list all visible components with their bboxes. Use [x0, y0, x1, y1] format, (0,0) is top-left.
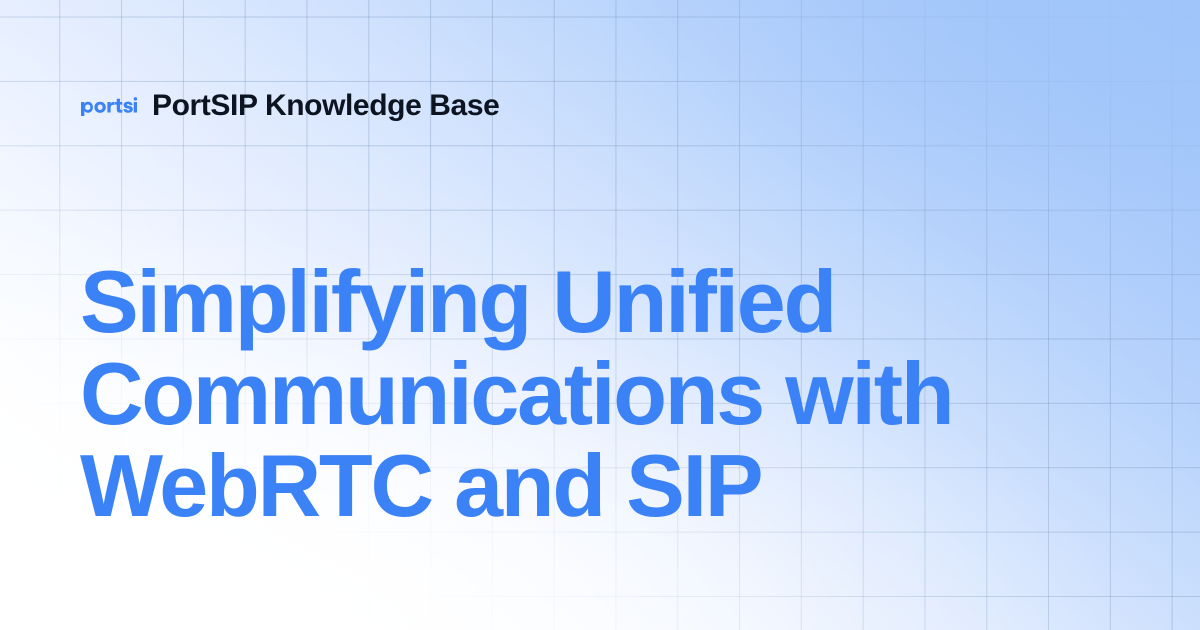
share-card: PortSIP Knowledge Base Simplifying Unifi… — [0, 0, 1200, 630]
page-title: Simplifying Unified Communications with … — [80, 256, 1110, 532]
headline-line-3: WebRTC and SIP — [80, 440, 1110, 532]
portsip-logo-icon — [80, 97, 138, 116]
brand-header: PortSIP Knowledge Base — [80, 86, 499, 126]
card-content: PortSIP Knowledge Base Simplifying Unifi… — [0, 0, 1200, 630]
headline-line-2: Communications with — [80, 348, 1110, 440]
headline-line-1: Simplifying Unified — [80, 256, 1110, 348]
brand-title: PortSIP Knowledge Base — [152, 91, 499, 121]
